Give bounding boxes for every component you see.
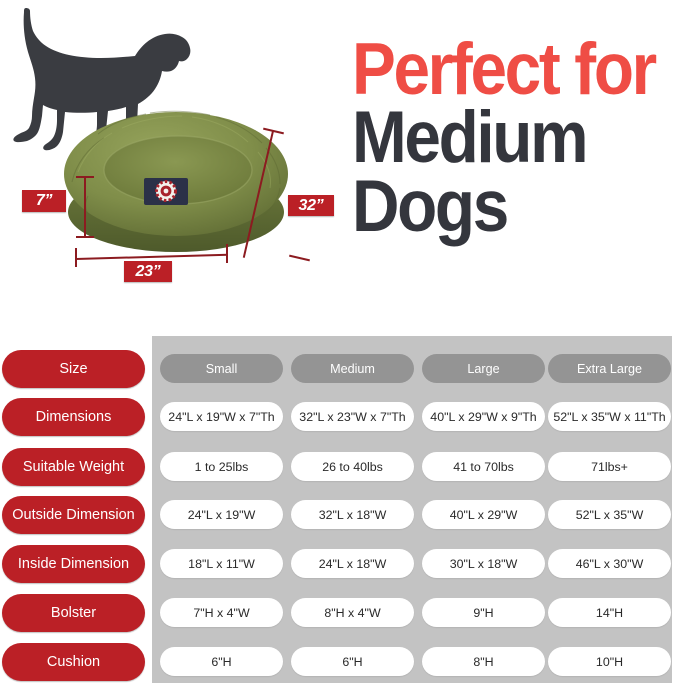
column-header-0: Small bbox=[160, 354, 283, 383]
table-row: Dimensions24"L x 19"W x 7"Th32"L x 23"W … bbox=[0, 396, 679, 438]
callout-length-label: 32” bbox=[288, 195, 334, 216]
measure-cap-height-top bbox=[76, 176, 94, 178]
headline-line-2: Medium bbox=[352, 104, 646, 172]
table-cell: 24"L x 18"W bbox=[291, 549, 414, 578]
headline: Perfect for Medium Dogs bbox=[352, 36, 646, 241]
table-cell: 8"H bbox=[422, 647, 545, 676]
measure-line-height bbox=[84, 176, 86, 238]
measure-cap-height-bottom bbox=[76, 236, 94, 238]
table-cell: 32"L x 18"W bbox=[291, 500, 414, 529]
headline-line-1: Perfect for bbox=[352, 36, 646, 104]
table-cell: 40"L x 29"W bbox=[422, 500, 545, 529]
table-cell: 9"H bbox=[422, 598, 545, 627]
table-cell: 30"L x 18"W bbox=[422, 549, 545, 578]
measure-cap-length-bottom bbox=[289, 255, 310, 262]
measure-cap-width-left bbox=[75, 248, 77, 267]
headline-line-3: Dogs bbox=[352, 173, 646, 241]
table-cell: 14"H bbox=[548, 598, 671, 627]
table-cell: 52"L x 35"W bbox=[548, 500, 671, 529]
table-cell: 1 to 25lbs bbox=[160, 452, 283, 481]
callout-width-label: 23” bbox=[124, 261, 172, 282]
table-cell: 41 to 70lbs bbox=[422, 452, 545, 481]
row-label-outside-dimension: Outside Dimension bbox=[2, 496, 145, 534]
table-cell: 8"H x 4"W bbox=[291, 598, 414, 627]
callout-height-label: 7” bbox=[22, 190, 66, 212]
table-cell: 18"L x 11"W bbox=[160, 549, 283, 578]
table-row: Outside Dimension24"L x 19"W32"L x 18"W4… bbox=[0, 494, 679, 536]
spec-table: SizeSmallMediumLargeExtra LargeDimension… bbox=[0, 336, 679, 683]
table-row: Bolster7"H x 4"W8"H x 4"W9"H14"H bbox=[0, 592, 679, 634]
dog-bed-image bbox=[58, 104, 294, 256]
row-label-cushion: Cushion bbox=[2, 643, 145, 681]
table-cell: 26 to 40lbs bbox=[291, 452, 414, 481]
row-label-suitable-weight: Suitable Weight bbox=[2, 448, 145, 486]
table-row: Suitable Weight1 to 25lbs26 to 40lbs41 t… bbox=[0, 446, 679, 488]
table-row: SizeSmallMediumLargeExtra Large bbox=[0, 348, 679, 390]
table-cell: 24"L x 19"W x 7"Th bbox=[160, 402, 283, 431]
table-cell: 46"L x 30"W bbox=[548, 549, 671, 578]
table-row: Cushion6"H6"H8"H10"H bbox=[0, 641, 679, 683]
table-cell: 6"H bbox=[160, 647, 283, 676]
column-header-2: Large bbox=[422, 354, 545, 383]
table-cell: 24"L x 19"W bbox=[160, 500, 283, 529]
table-cell: 6"H bbox=[291, 647, 414, 676]
row-label-inside-dimension: Inside Dimension bbox=[2, 545, 145, 583]
table-cell: 7"H x 4"W bbox=[160, 598, 283, 627]
column-header-3: Extra Large bbox=[548, 354, 671, 383]
row-label-dimensions: Dimensions bbox=[2, 398, 145, 436]
row-label-bolster: Bolster bbox=[2, 594, 145, 632]
measure-cap-width-right bbox=[226, 244, 228, 263]
hero-section: 7” 23” 32” Perfect for Medium Dogs bbox=[0, 0, 679, 330]
table-cell: 71lbs+ bbox=[548, 452, 671, 481]
brand-tag-icon bbox=[144, 178, 188, 205]
table-row: Inside Dimension18"L x 11"W24"L x 18"W30… bbox=[0, 543, 679, 585]
column-header-1: Medium bbox=[291, 354, 414, 383]
table-cell: 32"L x 23"W x 7"Th bbox=[291, 402, 414, 431]
table-cell: 40"L x 29"W x 9"Th bbox=[422, 402, 545, 431]
table-cell: 52"L x 35"W x 11"Th bbox=[548, 402, 671, 431]
row-label-size: Size bbox=[2, 350, 145, 388]
table-cell: 10"H bbox=[548, 647, 671, 676]
